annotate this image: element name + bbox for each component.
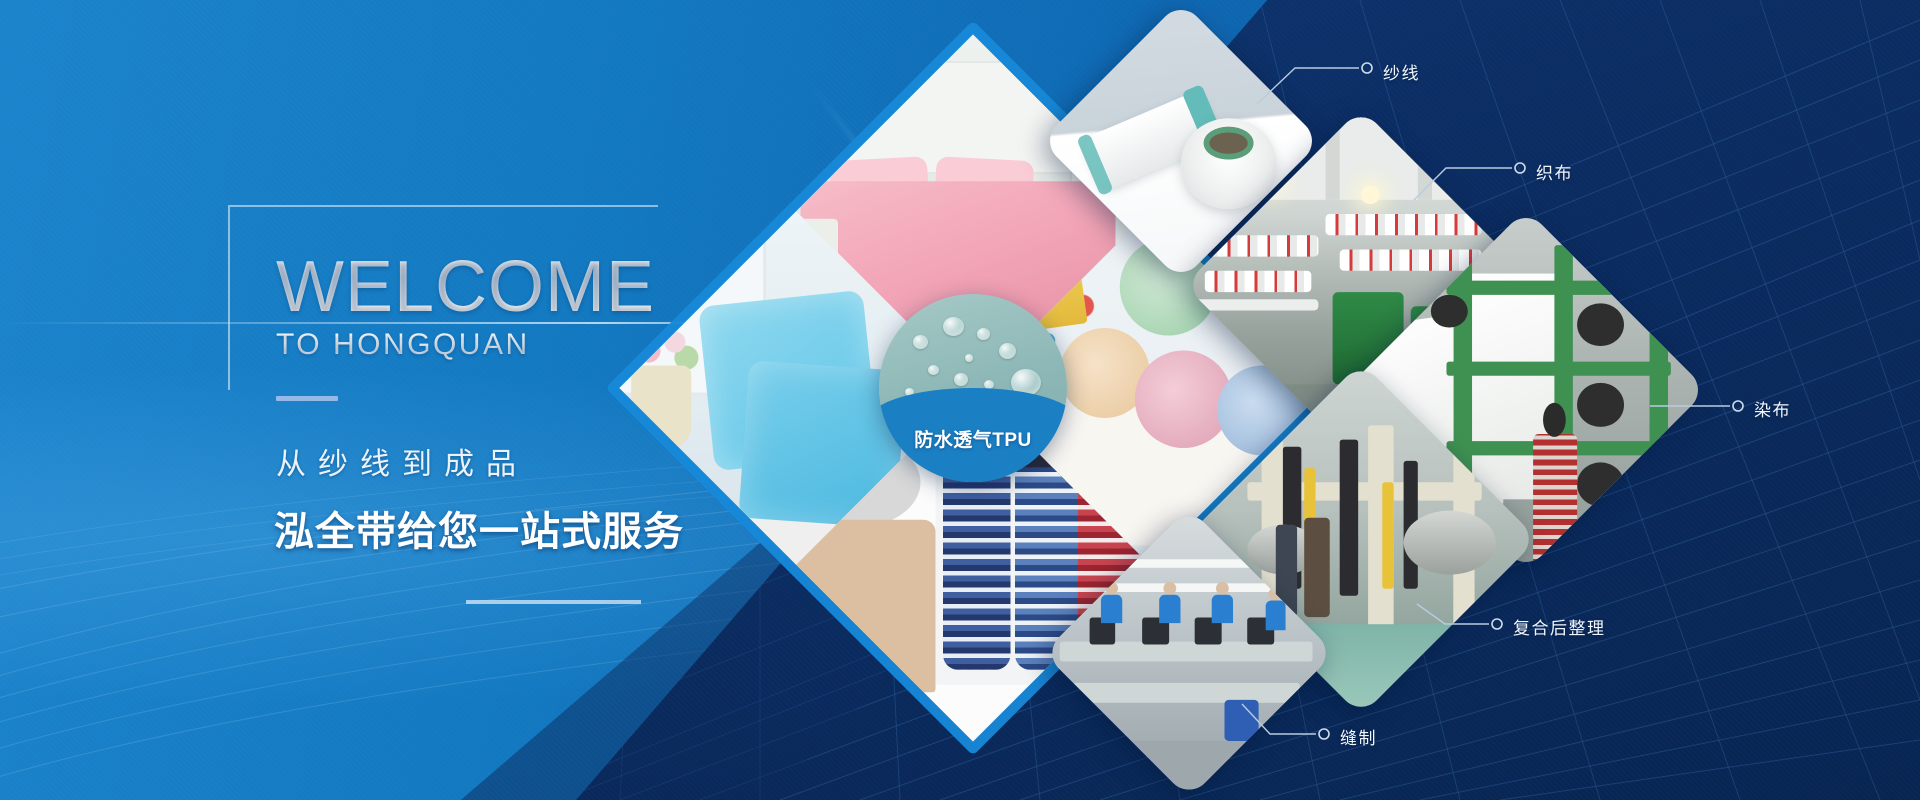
horizontal-rule — [466, 600, 641, 604]
connector-weaving: 织布 — [1412, 150, 1552, 211]
connector-lamination: 复合后整理 — [1415, 600, 1535, 651]
promo-banner: WELCOME TO HONGQUAN 从纱线到成品 泓全带给您一站式服务 — [0, 0, 1920, 800]
process-label-sewing: 缝制 — [1340, 724, 1377, 749]
accent-dash — [276, 396, 338, 401]
process-label-weaving: 织布 — [1536, 159, 1573, 184]
connector-yarn: 纱线 — [1255, 60, 1395, 115]
tpu-badge: 防水透气TPU — [879, 294, 1067, 482]
process-label-dyeing: 染布 — [1754, 396, 1791, 421]
tpu-badge-label: 防水透气TPU — [879, 425, 1067, 452]
tagline-cn: 从纱线到成品 — [276, 439, 698, 483]
headline-cn: 泓全带给您一站式服务 — [274, 499, 698, 557]
process-label-lamination: 复合后整理 — [1513, 614, 1606, 639]
process-label-yarn: 纱线 — [1383, 59, 1420, 84]
headline-en: WELCOME — [228, 205, 698, 322]
connector-sewing: 缝制 — [1240, 700, 1360, 761]
connector-dyeing: 染布 — [1648, 392, 1768, 425]
